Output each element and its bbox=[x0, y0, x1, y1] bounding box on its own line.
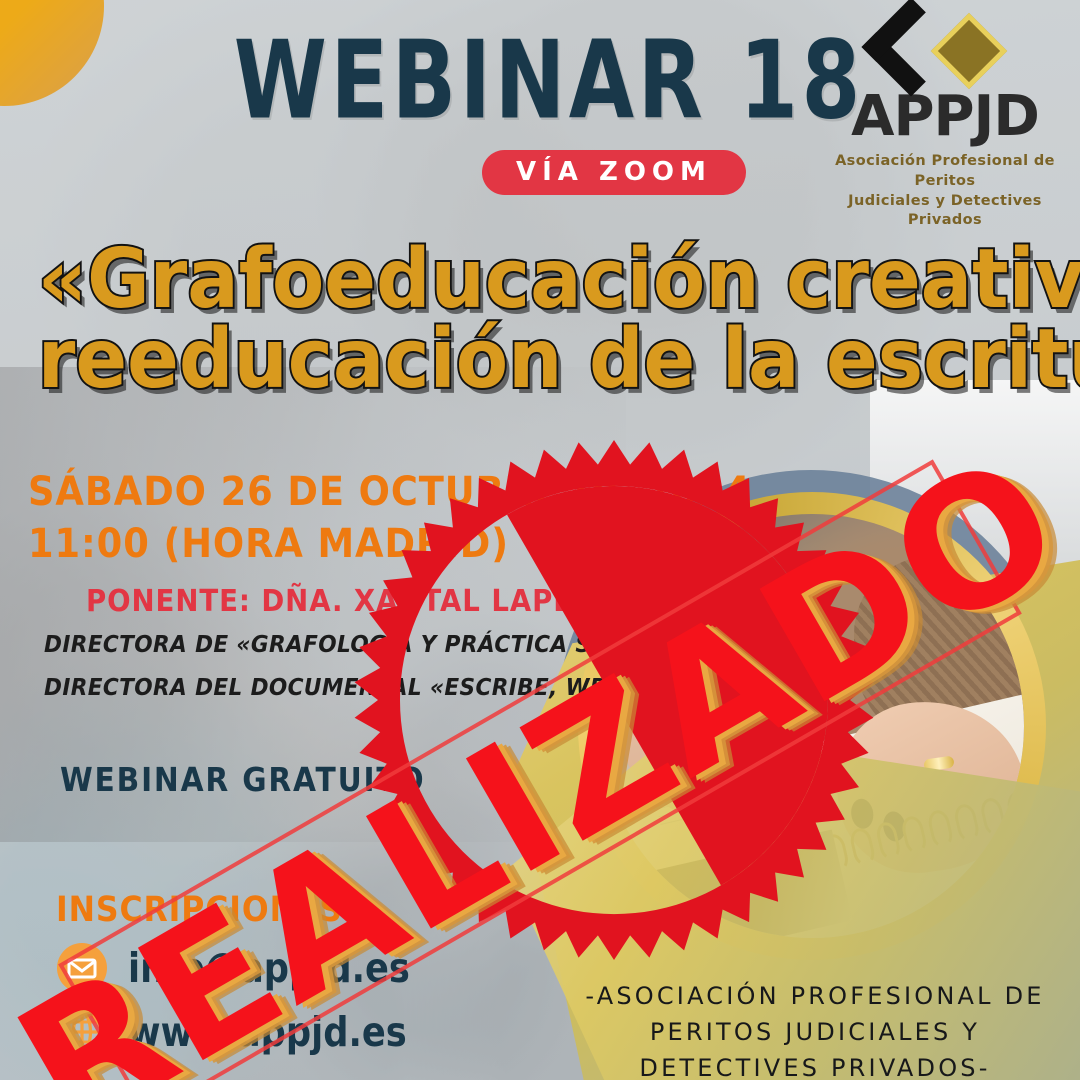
logo-tagline-line-1: Asociación Profesional de Peritos bbox=[835, 153, 1055, 189]
event-date: SÁBADO 26 DE OCTUBRE DE 2024 bbox=[28, 466, 617, 518]
event-time: 11:00 (HORA MADRID) bbox=[28, 518, 617, 570]
speaker-role-1: DIRECTORA DE «GRAFOLOGÍA Y PRÁCTICA SOCI… bbox=[44, 629, 631, 662]
event-speaker: PONENTE: DÑA. XANTAL LAPLANA bbox=[86, 584, 621, 619]
headline-line-2: reeducación de la escritura» bbox=[38, 320, 1042, 400]
webinar-headline: «Grafoeducación creativa versus reeducac… bbox=[38, 240, 1042, 401]
poster-canvas: WEBINAR 18 VÍA ZOOM APPJD Asociación Pro… bbox=[0, 0, 1080, 1080]
diamond-icon bbox=[931, 13, 1007, 89]
footer-line-2: PERITOS JUDICIALES Y bbox=[560, 1014, 1070, 1050]
via-zoom-badge: VÍA ZOOM bbox=[482, 150, 746, 195]
headline-line-1: «Grafoeducación creativa versus bbox=[38, 240, 1042, 320]
logo-tagline-line-2: Judiciales y Detectives Privados bbox=[848, 193, 1042, 229]
organization-footer: -ASOCIACIÓN PROFESIONAL DE PERITOS JUDIC… bbox=[560, 978, 1070, 1080]
logo-tagline: Asociación Profesional de Peritos Judici… bbox=[830, 152, 1060, 230]
footer-line-1: -ASOCIACIÓN PROFESIONAL DE bbox=[560, 978, 1070, 1014]
appjd-logo: APPJD Asociación Profesional de Peritos … bbox=[830, 6, 1060, 231]
chevron-diamond-logo-icon bbox=[830, 6, 1060, 104]
footer-line-3: DETECTIVES PRIVADOS- bbox=[560, 1050, 1070, 1080]
